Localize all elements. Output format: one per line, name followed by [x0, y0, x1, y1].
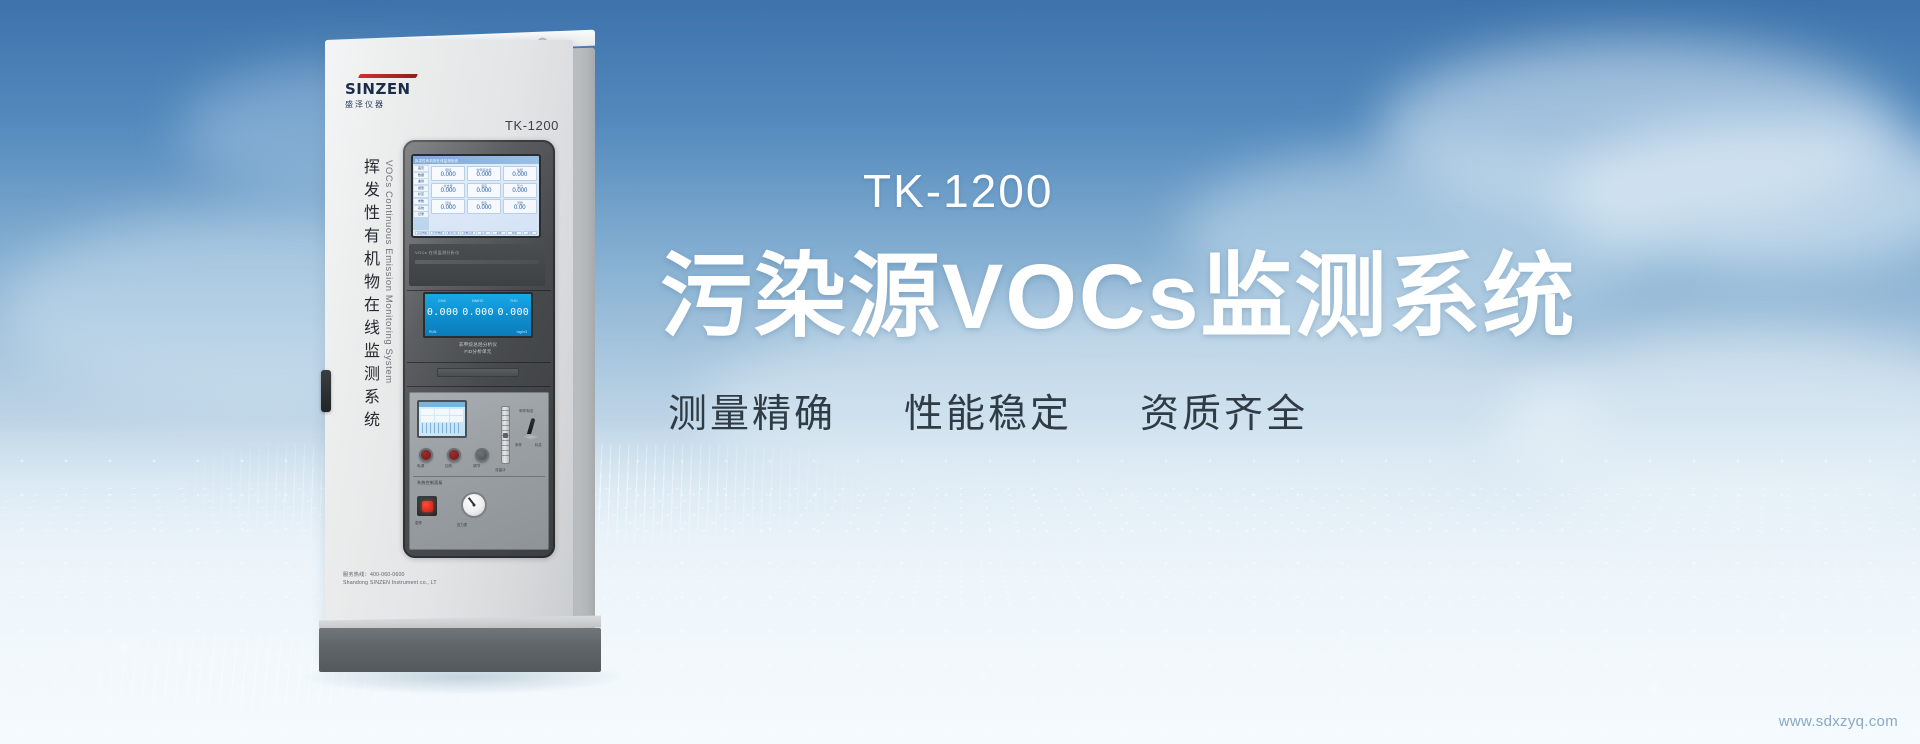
banner-copy: TK-1200 污染源VOCs监测系统 测量精确 性能稳定 资质齐全: [660, 168, 1820, 439]
particle-mesh-decoration: [0, 444, 1920, 744]
hmi-readout-value: 0.000: [476, 205, 491, 212]
chromatogram-trace: [422, 423, 462, 433]
toggle-switch-label: 采样/标定: [519, 408, 534, 413]
hmi-readout-value: 0.000: [476, 188, 491, 195]
hmi-nav-item[interactable]: 报警: [414, 186, 428, 191]
hmi-nav-item[interactable]: 系统: [414, 206, 428, 211]
hmi-readout-grid: 甲烷 0.000 非甲烷总烃 0.000 总烃 0.000 氧含量 0.000: [429, 164, 539, 230]
toggle-option-left: 采样: [515, 442, 522, 447]
knob-label: 电源: [417, 464, 425, 469]
hmi-readout-value: 0.000: [476, 172, 491, 179]
hmi-readout-value: 0.000: [441, 188, 456, 195]
control-panel-title: 系统控制面板: [417, 480, 443, 486]
hmi-nav-item[interactable]: 数据: [414, 173, 428, 178]
product-model-label: TK-1200: [863, 168, 1820, 214]
lcd-header: CH4: [438, 299, 446, 303]
hmi-readout-cell: 压力 0.000: [503, 183, 537, 198]
banner-headline: 污染源VOCs监测系统: [660, 248, 1820, 347]
door-handle[interactable]: [321, 370, 331, 412]
lcd-value: 0.000: [462, 307, 494, 318]
hmi-readout-value: 0.000: [512, 188, 527, 195]
hmi-toolbar-button[interactable]: 参数设置: [461, 231, 475, 235]
hmi-nav[interactable]: 首页 数据 曲线 报警 标定 参数 系统 记录: [413, 164, 429, 230]
hmi-readout-cell: 甲烷 0.000: [431, 166, 465, 181]
emergency-stop-label: 急停: [415, 520, 422, 525]
cabinet-side-panel: [573, 48, 595, 653]
product-image-tk1200: SINZEN 盛泽仪器 TK-1200 挥发性有机物在线监测系统 VOCs Co…: [325, 28, 597, 688]
horizon-haze: [0, 420, 1920, 744]
hmi-toolbar-button[interactable]: 帮助: [507, 231, 521, 235]
analyzer-module-face: VOCs 在线监测分析仪: [409, 244, 545, 286]
lcd-status: RUN: [429, 330, 436, 334]
hmi-nav-item[interactable]: 标定: [414, 192, 428, 197]
lcd-caption-line1: 非甲烷总烃分析仪: [443, 342, 513, 349]
hmi-readout-cell: 温度 0.000: [467, 183, 501, 198]
knob-label: 加热: [445, 464, 453, 469]
panel-seam: [407, 386, 551, 387]
hmi-toolbar-button[interactable]: 退出: [523, 231, 537, 235]
pressure-gauge-label: 压力表: [457, 522, 467, 527]
hmi-titlebar: 挥发性有机物在线监测系统: [413, 156, 539, 164]
hmi-readout-cell: 湿度 0.000: [467, 199, 501, 214]
analyzer-module-label: VOCs 在线监测分析仪: [415, 250, 460, 256]
hmi-touchscreen[interactable]: 挥发性有机物在线监测系统 首页 数据 曲线 报警 标定 参数 系统 记录: [411, 154, 541, 238]
toggle-switch-base: [523, 434, 539, 440]
lcd-header: NMHC: [472, 299, 484, 303]
cabinet-footer-text: 服务热线：400-060-0600 Shandong SINZEN Instru…: [343, 571, 533, 588]
feature-item: 资质齐全: [1140, 383, 1308, 439]
lcd-caption-line2: FID分析单元: [443, 349, 513, 356]
control-knob-power[interactable]: [419, 448, 433, 462]
emergency-stop-button[interactable]: [417, 496, 437, 516]
panel-seam: [407, 362, 551, 363]
lcd-header-row: CH4 NMHC THC: [425, 294, 531, 303]
hmi-readout-cell: 氧含量 0.000: [431, 183, 465, 198]
control-knob-heater[interactable]: [447, 448, 461, 462]
brand-name-cn: 盛泽仪器: [345, 99, 465, 110]
brand-logo: SINZEN 盛泽仪器: [345, 74, 465, 110]
lcd-unit: mg/m3: [517, 330, 527, 334]
hmi-readout-cell: 非甲烷总烃 0.000: [467, 166, 501, 181]
panel-seam: [407, 290, 551, 291]
lcd-footer-row: RUN mg/m3: [425, 330, 531, 334]
hmi-readout-cell: 流速 0.000: [431, 199, 465, 214]
control-panel: 电源 加热 调节 流量计 采样/标定 采样 标定 系统控制面板 急停: [409, 392, 549, 550]
hmi-title: 挥发性有机物在线监测系统: [415, 158, 458, 163]
lcd-value-row: 0.000 0.000 0.000: [425, 303, 531, 318]
lcd-value: 0.000: [498, 307, 530, 318]
panel-divider: [413, 476, 545, 477]
hmi-toolbar-button[interactable]: 系统: [492, 231, 506, 235]
feature-item: 性能稳定: [904, 383, 1072, 439]
hmi-toolbar-button[interactable]: 实时数据: [415, 231, 429, 235]
toggle-option-right: 标定: [535, 442, 542, 447]
hmi-readout-cell: 总烃 0.000: [503, 166, 537, 181]
company-name-en: Shandong SINZEN Instrument co., LT: [343, 579, 533, 588]
brand-name: SINZEN: [345, 80, 465, 98]
cabinet-model-tag: TK-1200: [505, 118, 559, 133]
vertical-title-strip: 挥发性有机物在线监测系统 VOCs Continuous Emission Mo…: [343, 158, 395, 538]
mini-hmi-screen[interactable]: [417, 400, 467, 438]
brand-swoosh-icon: [358, 74, 418, 78]
hmi-readout-value: 0.000: [512, 172, 527, 179]
flowmeter-tube: [501, 406, 510, 464]
hmi-toolbar[interactable]: 实时数据 历史数据 报警记录 参数设置 标定 系统 帮助 退出: [413, 230, 539, 236]
cabinet-plinth: [319, 628, 601, 672]
hmi-toolbar-button[interactable]: 标定: [477, 231, 491, 235]
hmi-toolbar-button[interactable]: 报警记录: [446, 231, 460, 235]
feature-item: 测量精确: [668, 383, 836, 439]
module-handle-slot[interactable]: [437, 368, 519, 377]
vertical-title-en: VOCs Continuous Emission Monitoring Syst…: [383, 160, 394, 384]
instrument-door: 挥发性有机物在线监测系统 首页 数据 曲线 报警 标定 参数 系统 记录: [403, 140, 555, 558]
pressure-gauge: [461, 492, 487, 518]
flowmeter-label: 流量计: [495, 468, 506, 473]
promo-banner: SINZEN 盛泽仪器 TK-1200 挥发性有机物在线监测系统 VOCs Co…: [0, 0, 1920, 744]
hmi-readout-value: 0.00: [514, 205, 526, 212]
lcd-value: 0.000: [427, 307, 459, 318]
hmi-nav-item[interactable]: 曲线: [414, 179, 428, 184]
control-knob-adjust[interactable]: [475, 448, 489, 462]
hmi-readout-value: 0.000: [441, 172, 456, 179]
feature-list: 测量精确 性能稳定 资质齐全: [668, 383, 1820, 439]
hmi-readout-value: 0.000: [441, 205, 456, 212]
analyzer-lcd-display: CH4 NMHC THC 0.000 0.000 0.000 RUN mg/m3: [423, 292, 533, 338]
knob-label: 调节: [473, 464, 481, 469]
cabinet-front-panel: SINZEN 盛泽仪器 TK-1200 挥发性有机物在线监测系统 VOCs Co…: [325, 40, 573, 660]
lcd-caption: 非甲烷总烃分析仪 FID分析单元: [443, 342, 513, 356]
hmi-nav-item[interactable]: 记录: [414, 212, 428, 217]
site-watermark: www.sdxzyq.com: [1779, 713, 1898, 730]
analyzer-vent-strip: [415, 260, 539, 264]
hmi-toolbar-button[interactable]: 历史数据: [430, 231, 444, 235]
hmi-nav-item[interactable]: 参数: [414, 199, 428, 204]
hmi-nav-item[interactable]: 首页: [414, 166, 428, 171]
service-hotline: 服务热线：400-060-0600: [343, 571, 533, 580]
vertical-title-cn: 挥发性有机物在线监测系统: [357, 158, 381, 434]
lcd-header: THC: [510, 299, 518, 303]
hmi-readout-cell: 流量 0.00: [503, 199, 537, 214]
